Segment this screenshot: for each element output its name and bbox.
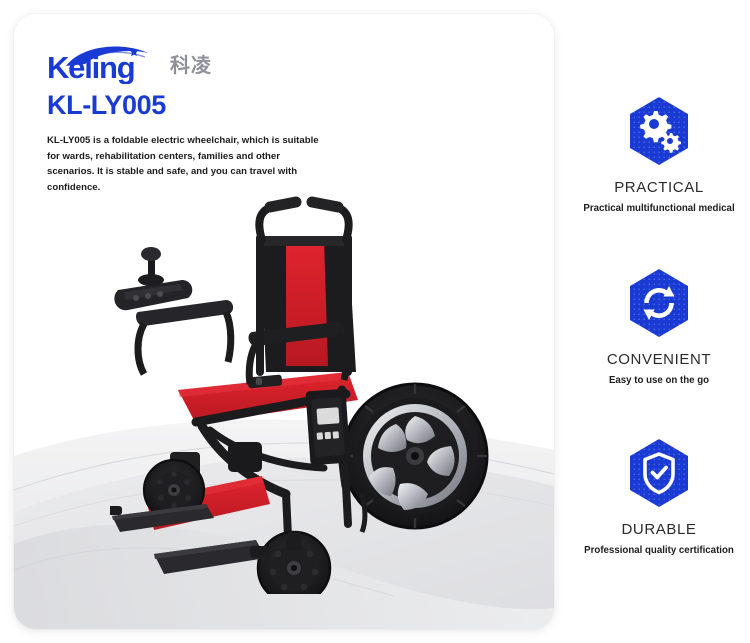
feature-title: CONVENIENT — [568, 352, 750, 367]
feature-list: PRACTICAL Practical multifunctional medi… — [568, 0, 750, 643]
product-description: KL-LY005 is a foldable electric wheelcha… — [47, 133, 324, 195]
refresh-sync-icon — [628, 268, 690, 338]
joystick-controller — [114, 247, 192, 310]
feature-subtitle: Practical multifunctional medical — [568, 203, 750, 215]
push-handles — [259, 202, 348, 240]
feature-item-durable[interactable]: DURABLE Professional quality certificati… — [568, 438, 750, 557]
brand-logo: Keling 科凌 — [47, 41, 212, 85]
feature-subtitle: Easy to use on the go — [568, 375, 750, 387]
feature-item-practical[interactable]: PRACTICAL Practical multifunctional medi… — [568, 96, 750, 215]
page-background: Keling 科凌 KL-LY005 KL-LY005 is a foldabl… — [0, 0, 750, 643]
gears-icon — [628, 96, 690, 166]
battery-pack — [305, 389, 350, 466]
feature-title: DURABLE — [568, 522, 750, 537]
shield-check-icon — [628, 438, 690, 508]
feature-title: PRACTICAL — [568, 180, 750, 195]
feature-subtitle: Professional quality certification — [568, 545, 750, 557]
footplate-lower — [154, 540, 270, 574]
caster-wheel-front-right — [258, 532, 330, 594]
product-image-wheelchair — [110, 194, 510, 594]
svg-text:Keling: Keling — [47, 50, 135, 84]
product-model-title: KL-LY005 — [47, 92, 166, 119]
keling-swoosh-logo-icon: Keling — [47, 42, 163, 84]
brand-logo-cn-text: 科凌 — [170, 56, 212, 76]
feature-item-convenient[interactable]: CONVENIENT Easy to use on the go — [568, 268, 750, 387]
product-card: Keling 科凌 KL-LY005 KL-LY005 is a foldabl… — [14, 14, 554, 629]
